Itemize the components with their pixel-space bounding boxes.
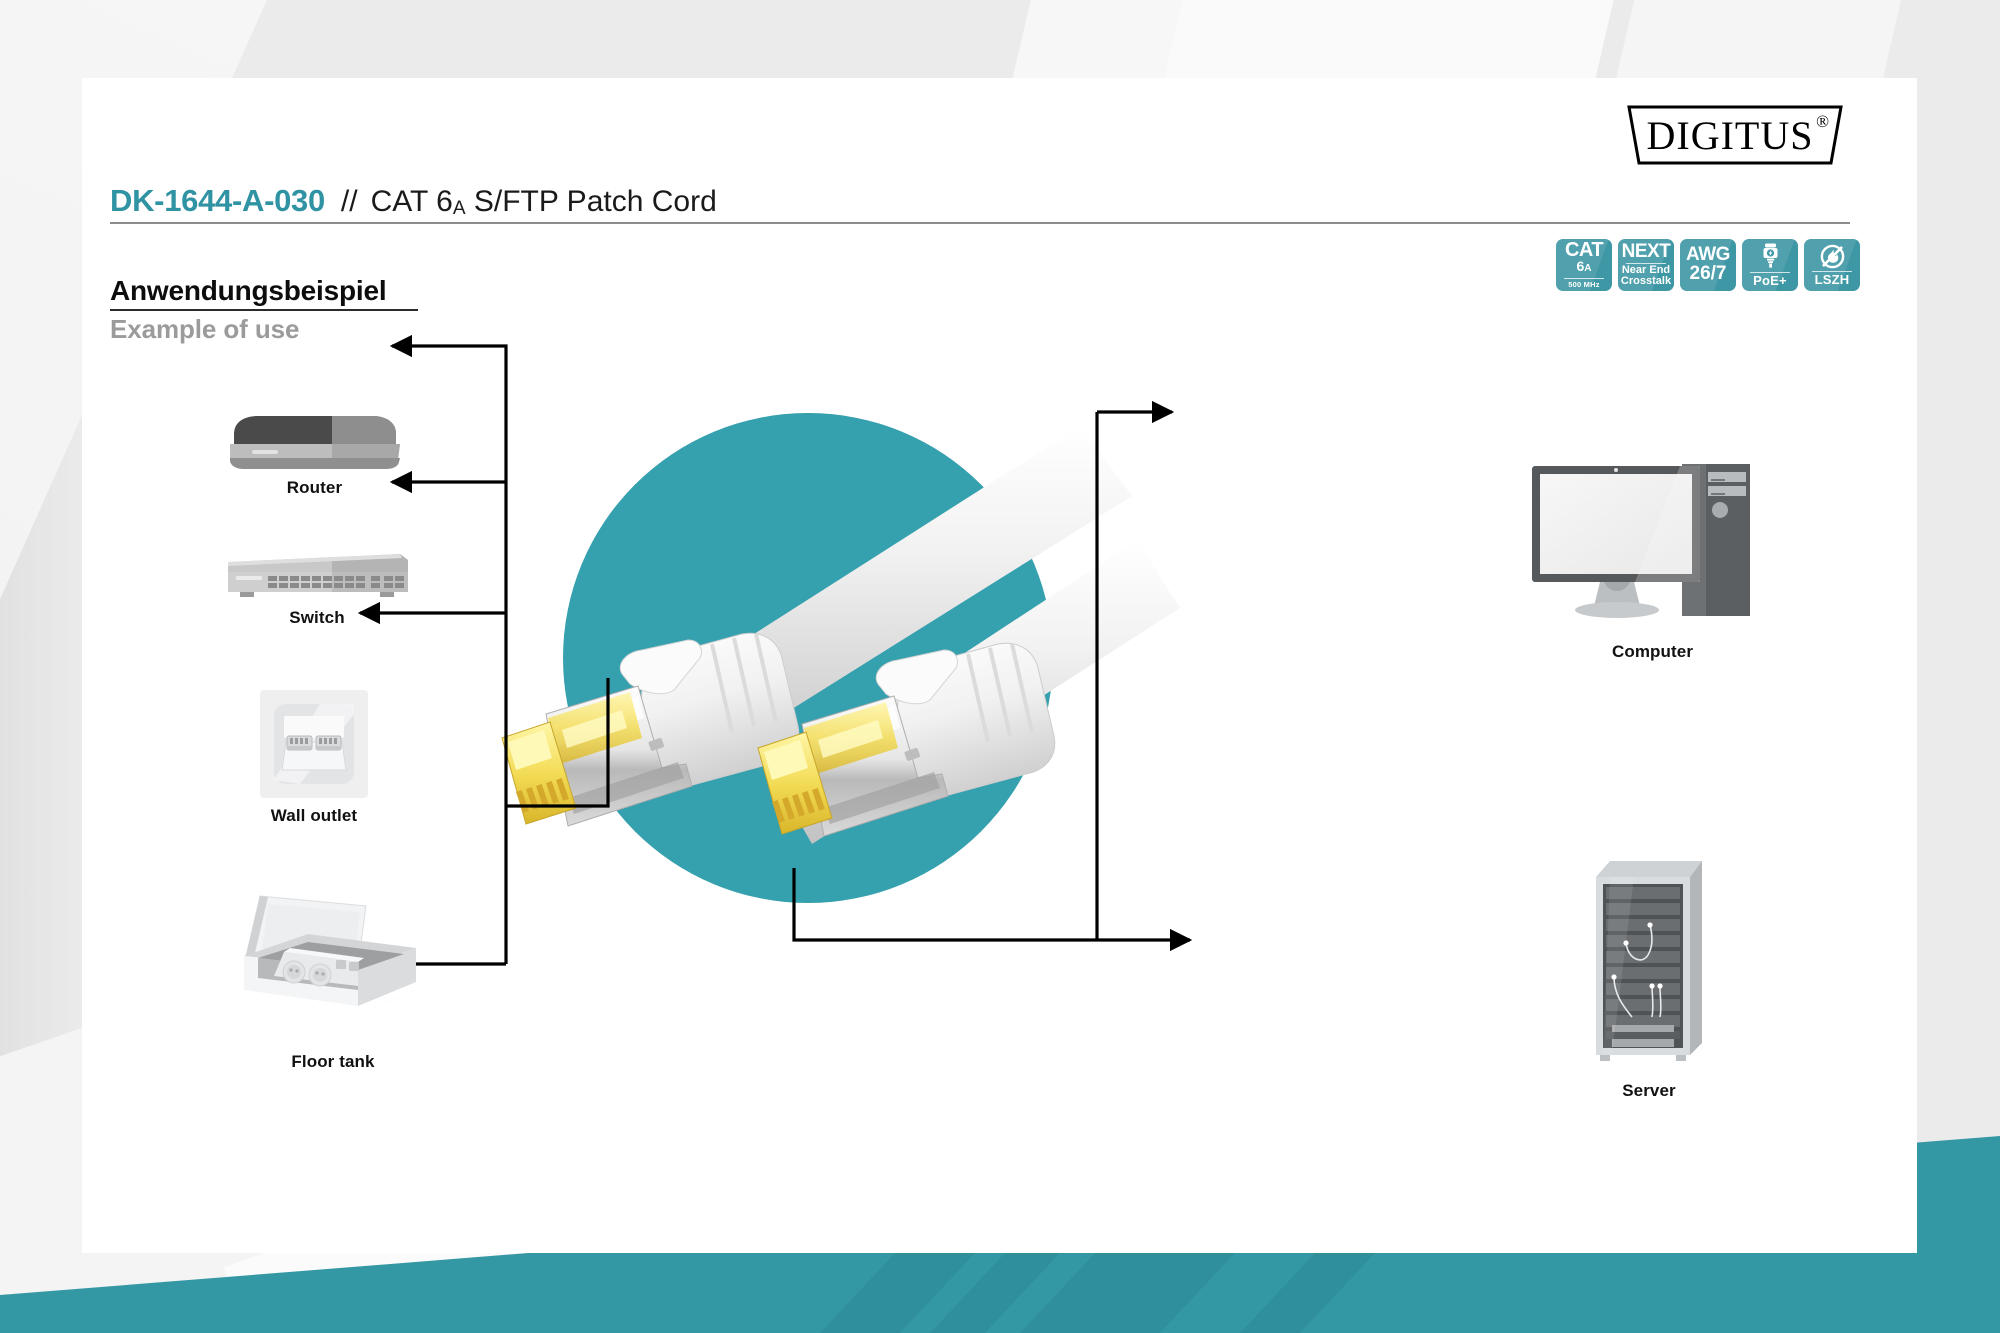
node-router-label: Router <box>222 478 407 498</box>
wall-outlet-icon <box>260 690 368 798</box>
badge-awg-line1: AWG <box>1686 246 1730 264</box>
badge-next-line1: NEXT <box>1622 243 1671 261</box>
no-flame-icon <box>1820 244 1845 269</box>
node-floor-tank-label: Floor tank <box>216 1052 450 1072</box>
node-switch-label: Switch <box>222 608 412 628</box>
node-server-label: Server <box>1540 1081 1758 1101</box>
badge-cat6a-line1: CAT <box>1565 241 1603 259</box>
badge-poe: PoE+ <box>1742 239 1798 291</box>
section-heading: Anwendungsbeispiel Example of use <box>110 275 418 345</box>
feature-badge-row: CAT 6A 500 MHz NEXT Near End Crosstalk A… <box>1556 239 1860 291</box>
badge-next: NEXT Near End Crosstalk <box>1618 239 1674 291</box>
badge-lszh-label: LSZH <box>1815 273 1850 287</box>
page-canvas: DIGITUS ® DK-1644-A-030 // CAT 6A S/FTP … <box>0 0 2000 1333</box>
node-router: Router <box>222 412 407 472</box>
digitus-logo: DIGITUS ® <box>1625 104 1845 166</box>
desktop-computer-icon <box>1530 460 1775 635</box>
badge-poe-label: PoE+ <box>1753 274 1787 288</box>
product-name-suffix: S/FTP Patch Cord <box>466 185 717 218</box>
node-wall-outlet-label: Wall outlet <box>232 806 396 826</box>
node-wall-outlet: Wall outlet <box>260 690 368 798</box>
registered-trademark-icon: ® <box>1816 112 1829 132</box>
product-sku: DK-1644-A-030 <box>110 183 325 219</box>
background-left-shade <box>0 0 90 1333</box>
plug-lightning-icon <box>1761 243 1780 270</box>
server-rack-icon <box>1590 855 1708 1070</box>
badge-awg: AWG 26/7 <box>1680 239 1736 291</box>
network-switch-icon <box>222 548 412 600</box>
title-separator: // <box>341 185 358 219</box>
router-icon <box>222 412 407 472</box>
node-computer-label: Computer <box>1510 642 1795 662</box>
product-name: CAT 6A S/FTP Patch Cord <box>371 185 717 220</box>
node-floor-tank: Floor tank <box>238 890 428 1040</box>
badge-cat6a: CAT 6A 500 MHz <box>1556 239 1612 291</box>
title-divider <box>110 222 1850 224</box>
badge-cat6a-line2: 6A <box>1576 259 1591 276</box>
product-name-prefix: CAT 6 <box>371 185 453 218</box>
logo-wordmark: DIGITUS <box>1625 104 1845 166</box>
badge-next-line2b: Crosstalk <box>1621 276 1671 288</box>
badge-lszh: LSZH <box>1804 239 1860 291</box>
product-name-subscript: A <box>453 198 466 219</box>
section-heading-de: Anwendungsbeispiel <box>110 275 418 307</box>
floor-tank-icon <box>238 890 428 1040</box>
node-switch: Switch <box>222 548 412 600</box>
badge-divider <box>1564 278 1604 279</box>
node-server: Server <box>1590 855 1708 1070</box>
node-computer: Computer <box>1530 460 1775 635</box>
section-heading-underline <box>110 309 418 311</box>
section-heading-en: Example of use <box>110 314 418 345</box>
product-title-row: DK-1644-A-030 // CAT 6A S/FTP Patch Cord <box>110 183 1850 220</box>
badge-awg-line2: 26/7 <box>1690 264 1727 284</box>
badge-cat6a-line3: 500 MHz <box>1568 280 1599 289</box>
